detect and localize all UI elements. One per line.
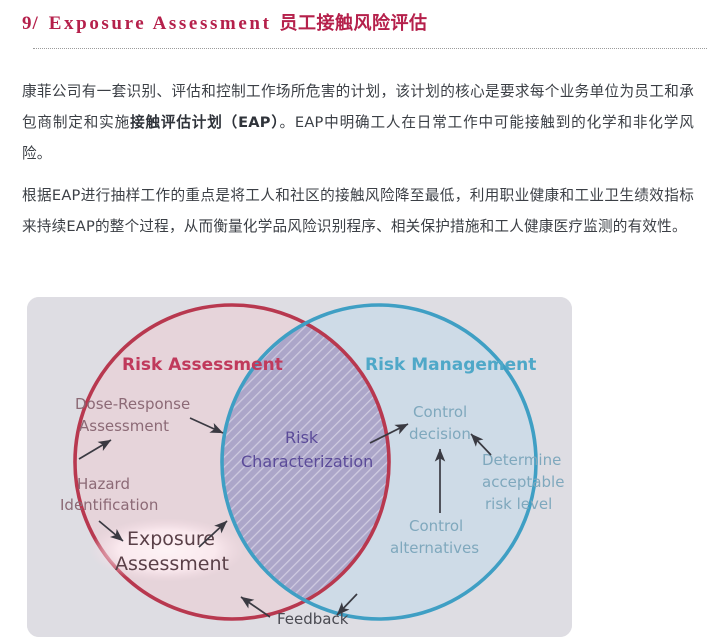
paragraph-two: 根据EAP进行抽样工作的重点是将工人和社区的接触风险降至最低，利用职业健康和工业… (22, 180, 694, 242)
overlap-label-line2: Characterization (241, 452, 373, 471)
label-control-decision-line2: decision (409, 425, 471, 443)
venn-diagram-svg: Risk Assessment Risk Management Dose-Res… (27, 297, 572, 637)
section-title-chinese: 员工接触风险评估 (280, 13, 428, 34)
label-hazard-line1: Hazard (77, 475, 130, 493)
paragraph-one: 康菲公司有一套识别、评估和控制工作场所危害的计划，该计划的核心是要求每个业务单位… (22, 76, 694, 169)
left-circle-title: Risk Assessment (122, 355, 283, 375)
label-control-alternatives-line1: Control (409, 517, 463, 535)
label-determine-line2: acceptable (482, 473, 564, 491)
title-divider (33, 48, 708, 49)
section-number: 9/ (22, 13, 39, 34)
paragraph-one-emphasis: 接触评估计划（EAP） (130, 114, 279, 131)
label-exposure-line2: Assessment (115, 553, 229, 575)
label-hazard-line2: Identification (60, 496, 158, 514)
section-title-english: Exposure Assessment (49, 13, 272, 34)
label-determine-line3: risk level (485, 495, 552, 513)
figure-container: Risk Assessment Risk Management Dose-Res… (27, 297, 572, 637)
page-title: 9/Exposure Assessment员工接触风险评估 (22, 14, 690, 35)
page-header: 9/Exposure Assessment员工接触风险评估 (0, 0, 708, 49)
venn-diagram-image: Risk Assessment Risk Management Dose-Res… (27, 297, 572, 637)
label-determine-line1: Determine (482, 451, 561, 469)
label-dose-response-line2: Assessment (79, 417, 169, 435)
label-dose-response-line1: Dose-Response (75, 395, 190, 413)
right-circle-title: Risk Management (365, 355, 536, 375)
overlap-label-line1: Risk (285, 428, 319, 447)
label-feedback: Feedback (277, 610, 349, 628)
label-control-decision-line1: Control (413, 403, 467, 421)
body-content: 康菲公司有一套识别、评估和控制工作场所危害的计划，该计划的核心是要求每个业务单位… (0, 76, 708, 242)
label-control-alternatives-line2: alternatives (390, 539, 479, 557)
label-exposure-line1: Exposure (127, 528, 215, 550)
